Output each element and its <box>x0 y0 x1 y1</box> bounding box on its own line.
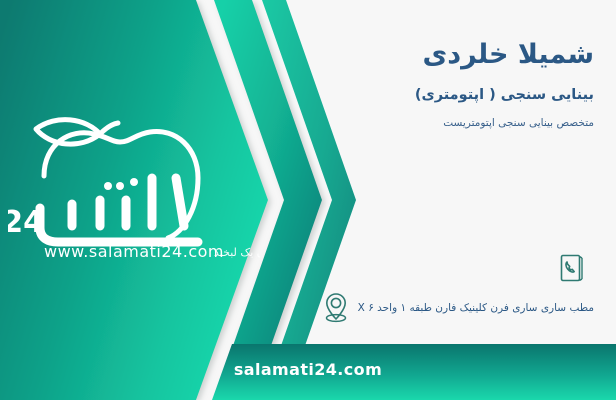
doctor-specialty: بینایی سنجی ( اپتومتری) <box>242 86 594 105</box>
address-label: مطب ساری ساری فرن کلینیک فارن طبقه ۱ واح… <box>358 301 598 316</box>
contact-row-address[interactable]: مطب ساری ساری فرن کلینیک فارن طبقه ۱ واح… <box>228 288 598 328</box>
doctor-info: شمیلا خلردی بینایی سنجی ( اپتومتری) متخص… <box>242 38 594 130</box>
salamati24-logo: 24 براحتی یک لبخند www.salamati24.com <box>8 104 260 270</box>
logo-number: 24 <box>8 205 44 240</box>
footer-website: salamati24.com <box>0 360 616 379</box>
doctor-name: شمیلا خلردی <box>242 38 594 72</box>
footer-bar: salamati24.com <box>0 344 616 400</box>
business-card: 24 براحتی یک لبخند www.salamati24.com شم… <box>0 0 616 400</box>
contact-list: مطب ساری ساری فرن کلینیک فارن طبقه ۱ واح… <box>228 248 598 328</box>
logo-website: www.salamati24.com <box>8 242 260 261</box>
phonebook-icon <box>550 253 594 283</box>
map-pin-icon <box>314 291 358 325</box>
contact-row-phone[interactable] <box>228 248 598 288</box>
doctor-specialty-subtitle: متخصص بینایی سنجی اپتومتریست <box>242 117 594 131</box>
